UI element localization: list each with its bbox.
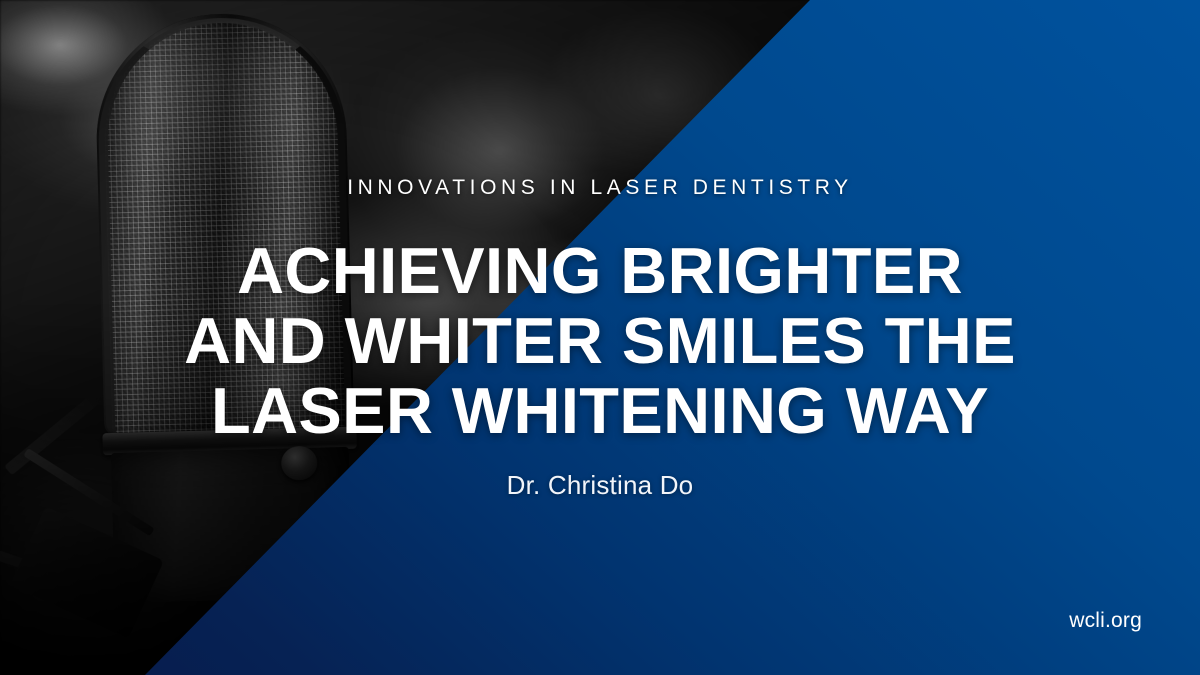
presentation-slide: INNOVATIONS IN LASER DENTISTRY ACHIEVING… bbox=[0, 0, 1200, 675]
presenter-name: Dr. Christina Do bbox=[0, 470, 1200, 501]
website-url: wcli.org bbox=[1069, 609, 1142, 633]
page-title: ACHIEVING BRIGHTER AND WHITER SMILES THE… bbox=[100, 236, 1100, 446]
page-title-line-2: AND WHITER SMILES THE bbox=[100, 306, 1100, 376]
slide-content: INNOVATIONS IN LASER DENTISTRY ACHIEVING… bbox=[0, 0, 1200, 675]
page-title-line-3: LASER WHITENING WAY bbox=[100, 376, 1100, 446]
page-title-line-1: ACHIEVING BRIGHTER bbox=[100, 236, 1100, 306]
eyebrow-series-title: INNOVATIONS IN LASER DENTISTRY bbox=[0, 176, 1200, 200]
